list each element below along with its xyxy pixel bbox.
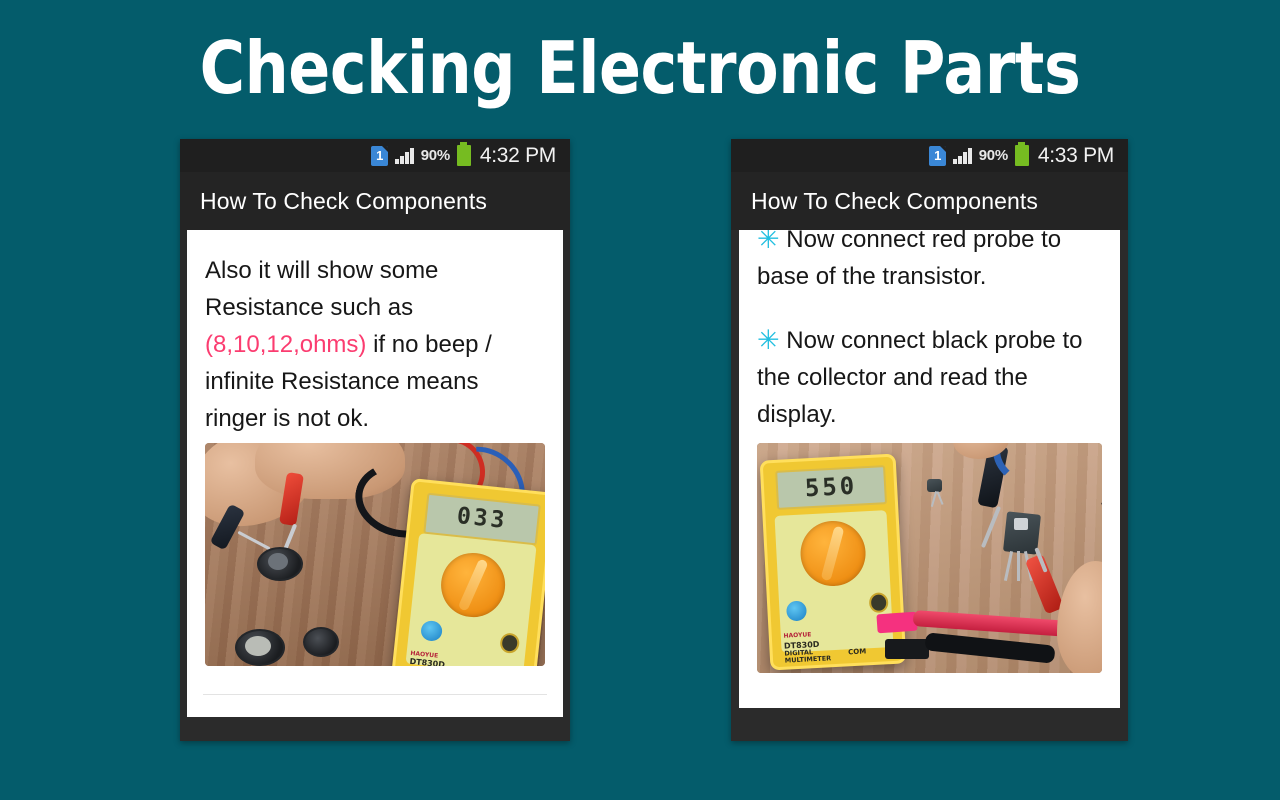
status-clock: 4:33 PM [1038,144,1114,168]
paragraph-text-before: Also it will show some Resistance such a… [205,257,438,321]
app-screen-right[interactable]: ✳ Now connect red probe to base of the t… [739,230,1120,708]
app-screen-left[interactable]: Also it will show some Resistance such a… [187,230,563,717]
article-bullet-2: ✳ Now connect black probe to the collect… [739,322,1120,433]
action-bar-left: How To Check Components [180,172,570,230]
status-bar-right: 1 90% 4:33 PM [731,139,1128,172]
status-clock: 4:32 PM [480,144,556,168]
article-bullet-1: ✳ Now connect red probe to base of the t… [739,230,1120,295]
bullet-2-text: Now connect black probe to the collector… [757,327,1082,428]
page-title: Checking Electronic Parts [90,26,1191,110]
resistance-values-highlight: (8,10,12,ohms) [205,331,366,358]
signal-bars-icon [395,147,414,164]
asterisk-bullet-icon: ✳ [757,325,780,355]
sim-card-icon: 1 [371,146,388,166]
signal-bars-icon [953,147,972,164]
bullet-1-text: Now connect red probe to base of the tra… [757,230,1061,290]
buzzer-continuity-test-photo: 033 HAOYUE DT830D DIGITAL MULTIMETER [205,443,545,666]
multimeter-lcd-right: 550 [775,465,887,509]
sim-card-icon: 1 [929,146,946,166]
battery-percent-label: 90% [979,147,1008,164]
meter-type-line2: MULTIMETER [785,655,832,664]
battery-icon [1015,145,1029,166]
action-bar-right: How To Check Components [731,172,1128,230]
meter-com-label: COM [848,648,866,656]
status-bar-left: 1 90% 4:32 PM [180,139,570,172]
action-bar-title: How To Check Components [751,188,1038,215]
transistor-test-photo: 550 HAOYUE DT830D DIGITAL MULTIMETER COM [757,443,1102,673]
content-divider [203,694,547,695]
asterisk-bullet-icon: ✳ [757,230,780,254]
phone-mockup-left: 1 90% 4:32 PM How To Check Components Al… [180,139,570,741]
battery-icon [457,145,471,166]
battery-percent-label: 90% [421,147,450,164]
phone-mockup-right: 1 90% 4:33 PM How To Check Components ✳ … [731,139,1128,741]
article-paragraph-left: Also it will show some Resistance such a… [187,230,563,437]
action-bar-title: How To Check Components [200,188,487,215]
